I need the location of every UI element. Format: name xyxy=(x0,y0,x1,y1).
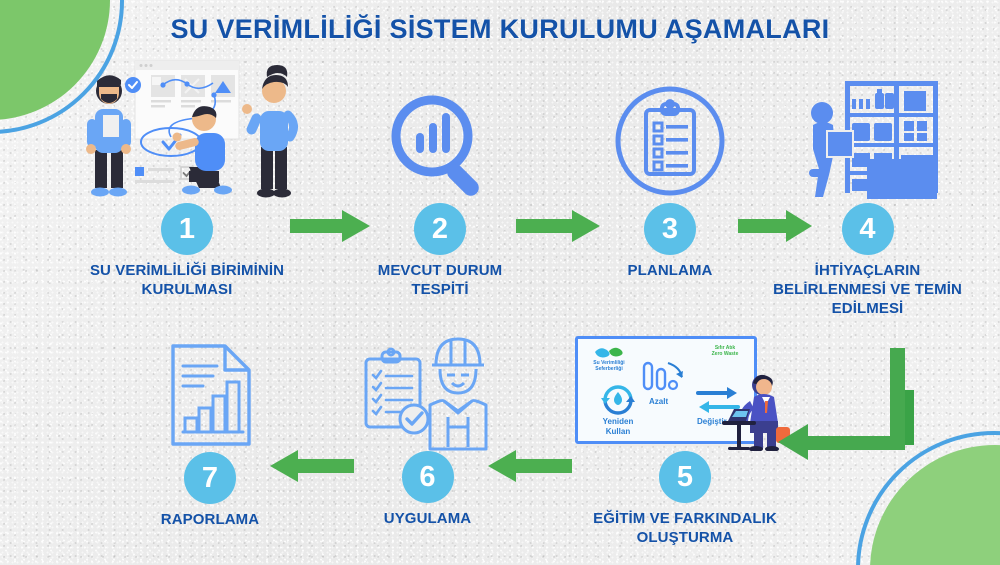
step-7-label: RAPORLAMA xyxy=(161,511,259,530)
step-6: 6 UYGULAMA xyxy=(345,330,510,529)
step-7: 7 RAPORLAMA xyxy=(130,340,290,530)
reuse-icon xyxy=(596,383,640,417)
arrow-step5-to-step6 xyxy=(486,448,572,484)
step-1-label: SU VERİMLİLİĞİ BİRİMİNİN KURULMASI xyxy=(90,262,284,300)
step-6-number: 6 xyxy=(402,451,454,503)
board-word-reduce: Azalt xyxy=(649,397,668,406)
step-6-label: UYGULAMA xyxy=(384,510,471,529)
report-document-bar-chart-icon xyxy=(155,340,265,452)
arrow-step3-to-step4 xyxy=(738,208,814,244)
warehouse-shelves-worker-icon xyxy=(797,71,939,203)
infographic-canvas: SU VERİMLİLİĞİ SİSTEM KURULUMU AŞAMALARI xyxy=(0,0,1000,565)
water-efficiency-logo: Su Verimliliği Seferberliği xyxy=(585,345,633,372)
team-planning-illustration-icon xyxy=(71,55,303,203)
reduce-icon xyxy=(640,361,694,395)
step-4: 4 İHTİYAÇLARIN BELİRLENMESİ VE TEMİN EDİ… xyxy=(760,60,975,318)
arrow-step4-to-step5 xyxy=(768,348,918,468)
step-3-number: 3 xyxy=(644,203,696,255)
person-left xyxy=(86,75,131,196)
step-7-illustration xyxy=(155,340,265,452)
clipboard-checklist-circle-icon xyxy=(608,81,732,203)
step-4-number: 4 xyxy=(842,203,894,255)
step-5-number: 5 xyxy=(659,451,711,503)
step-3-label: PLANLAMA xyxy=(628,262,713,281)
person-right xyxy=(242,65,294,198)
step-5-label: EĞİTİM VE FARKINDALIK OLUŞTURMA xyxy=(593,510,777,548)
worker-hardhat-checklist-icon xyxy=(352,331,504,451)
step-3: 3 PLANLAMA xyxy=(585,70,755,281)
arrow-step6-to-step7 xyxy=(268,448,354,484)
step-2-label: MEVCUT DURUM TESPİTİ xyxy=(378,262,503,300)
step-1: 1 SU VERİMLİLİĞİ BİRİMİNİN KURULMASI xyxy=(52,55,322,300)
step-7-number: 7 xyxy=(184,452,236,504)
arrow-step2-to-step3 xyxy=(516,208,602,244)
step-2-illustration xyxy=(385,75,495,203)
step-1-number: 1 xyxy=(161,203,213,255)
step-4-illustration xyxy=(797,60,939,203)
magnifier-bar-chart-icon xyxy=(385,91,495,203)
page-title: SU VERİMLİLİĞİ SİSTEM KURULUMU AŞAMALARI xyxy=(0,14,1000,45)
step-1-illustration xyxy=(71,55,303,203)
arrow-step1-to-step2 xyxy=(290,208,372,244)
step-3-illustration xyxy=(608,70,732,203)
step-4-label: İHTİYAÇLARIN BELİRLENMESİ VE TEMİN EDİLM… xyxy=(773,262,962,318)
water-drop-leaf-icon xyxy=(591,345,627,358)
board-word-reuse: Yeniden Kullan xyxy=(592,417,644,436)
step-2: 2 MEVCUT DURUM TESPİTİ xyxy=(345,75,535,300)
step-2-number: 2 xyxy=(414,203,466,255)
zero-waste-logo: Sıfır Atık Zero Waste xyxy=(702,346,748,358)
step-6-illustration xyxy=(352,330,504,451)
